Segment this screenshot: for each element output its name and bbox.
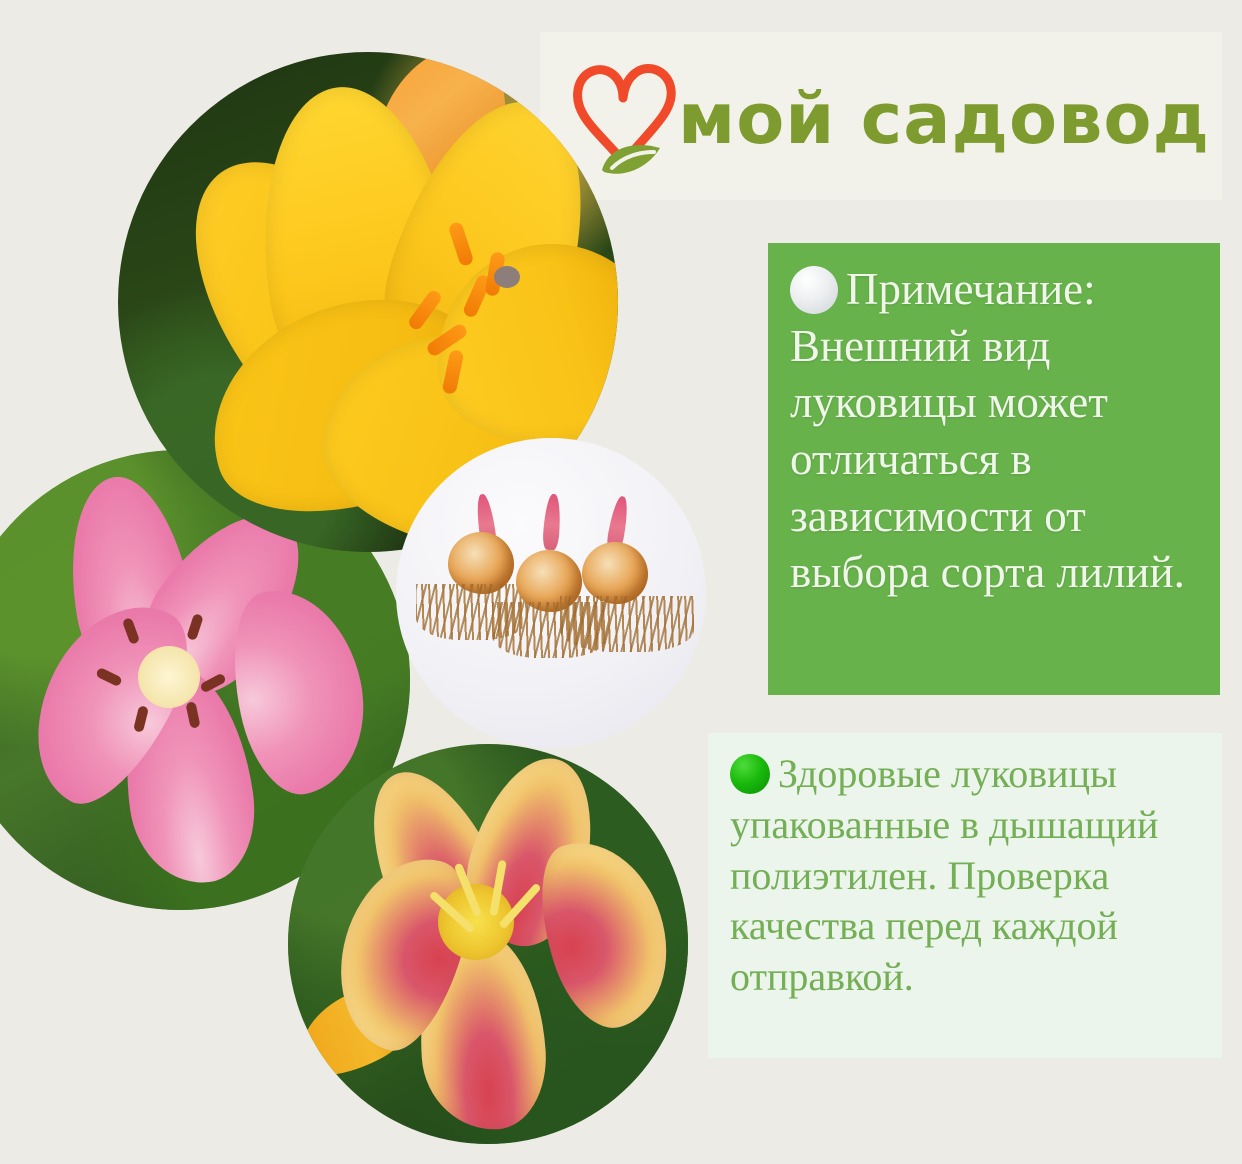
flower-center xyxy=(138,646,200,708)
photo-red-yellow-lily xyxy=(288,744,688,1144)
grey-circle-bullet-icon xyxy=(790,266,838,314)
brand-logo: мой садовод xyxy=(540,32,1222,200)
red-yellow-lily-scene xyxy=(288,744,688,1144)
note-text: Примечание: Внешний вид луковицы может о… xyxy=(790,264,1185,597)
bulb-roots xyxy=(560,596,694,652)
stigma xyxy=(494,266,520,288)
lily-bulb xyxy=(582,542,648,604)
photo-lily-bulbs xyxy=(396,438,706,748)
note-callout: Примечание: Внешний вид луковицы может о… xyxy=(768,243,1220,695)
quality-text: Здоровые луковицы упакованные в дышащий … xyxy=(730,751,1158,999)
promo-banner: мой садовод Примечание: Внешний вид луко… xyxy=(0,0,1242,1164)
bulb-sprout xyxy=(542,494,562,551)
quality-callout: Здоровые луковицы упакованные в дышащий … xyxy=(708,733,1222,1058)
quality-text-wrapper: Здоровые луковицы упакованные в дышащий … xyxy=(730,749,1208,1003)
green-circle-bullet-icon xyxy=(730,754,770,794)
brand-name: мой садовод xyxy=(678,84,1210,154)
lily-bulbs-scene xyxy=(396,438,706,748)
note-text-wrapper: Примечание: Внешний вид луковицы может о… xyxy=(790,261,1206,601)
